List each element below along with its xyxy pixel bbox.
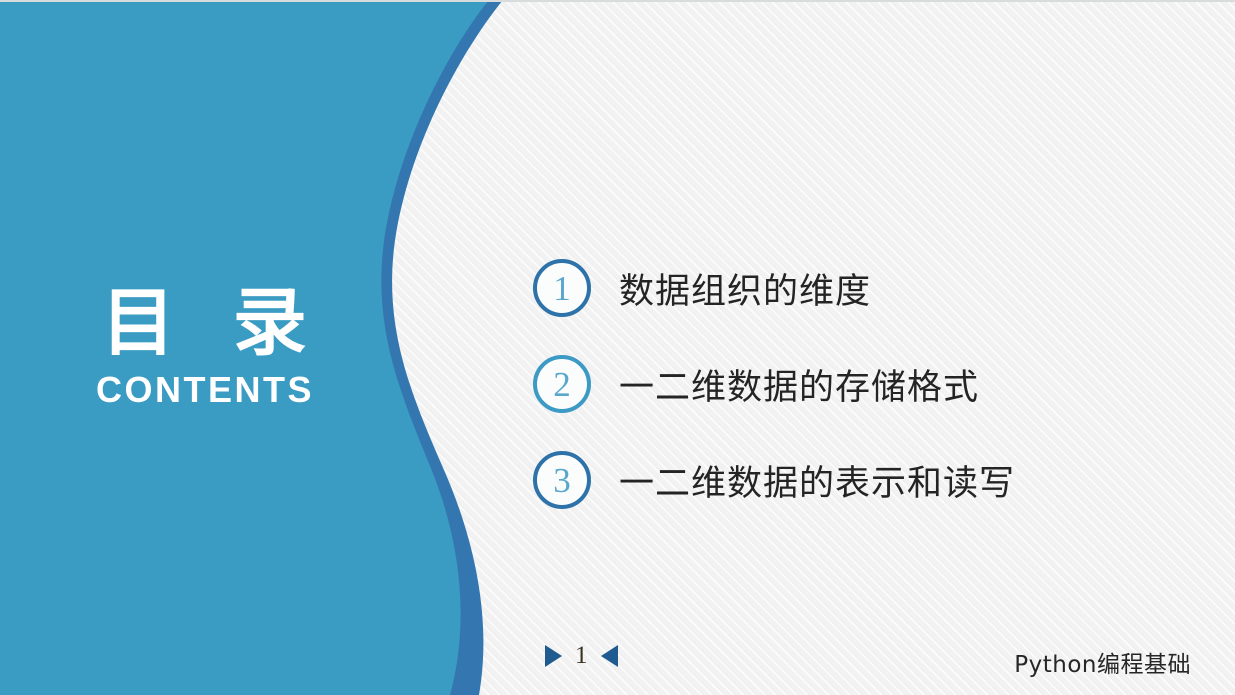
agenda-number-circle-1: 1 (533, 259, 591, 317)
top-edge-hairline (0, 0, 1235, 2)
agenda-label-3: 一二维数据的表示和读写 (619, 455, 1015, 506)
agenda-label-2: 一二维数据的存储格式 (619, 359, 979, 410)
page-indicator: 1 (545, 643, 618, 668)
agenda-label-1: 数据组织的维度 (619, 263, 871, 314)
agenda-number-1: 1 (553, 271, 571, 306)
agenda-list: 1 数据组织的维度 2 一二维数据的存储格式 3 一二维数据的表示和读写 (533, 240, 1015, 528)
triangle-right-icon[interactable] (545, 645, 562, 667)
list-item[interactable]: 1 数据组织的维度 (533, 240, 1015, 336)
agenda-number-3: 3 (553, 463, 571, 498)
agenda-number-circle-3: 3 (533, 451, 591, 509)
agenda-number-circle-2: 2 (533, 355, 591, 413)
footer-brand-label: Python编程基础 (1014, 645, 1191, 679)
list-item[interactable]: 2 一二维数据的存储格式 (533, 336, 1015, 432)
agenda-number-2: 2 (553, 367, 571, 402)
page-number: 1 (575, 643, 588, 668)
triangle-left-icon[interactable] (601, 645, 618, 667)
sidebar-main-panel (0, 0, 489, 695)
slide-canvas: 目 录 CONTENTS 1 数据组织的维度 2 一二维数据的存储格式 3 一二… (0, 0, 1235, 695)
list-item[interactable]: 3 一二维数据的表示和读写 (533, 432, 1015, 528)
